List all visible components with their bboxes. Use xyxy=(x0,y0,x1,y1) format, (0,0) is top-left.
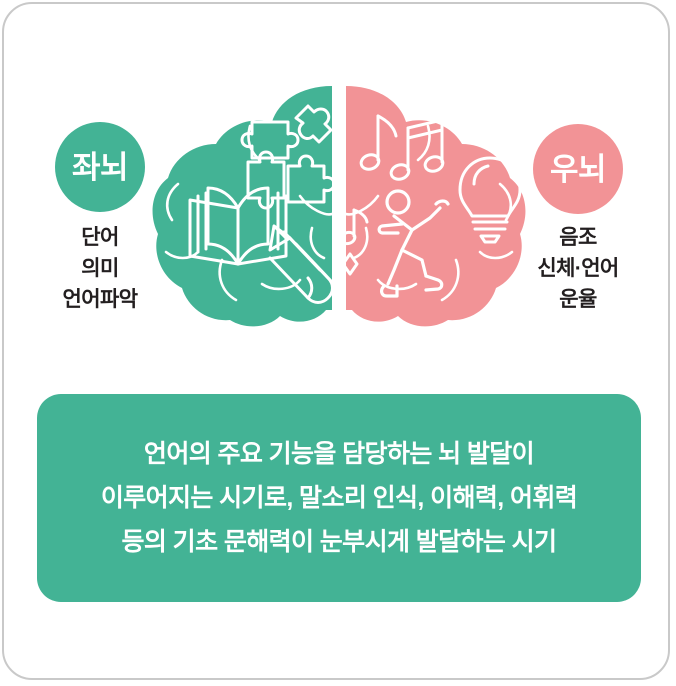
infographic-canvas: 좌뇌 단어 의미 언어파악 우뇌 음조 신체·언어 운율 xyxy=(0,0,676,686)
right-hemisphere-badge-label: 우뇌 xyxy=(550,154,606,185)
left-hemisphere-badge-label: 좌뇌 xyxy=(72,152,128,183)
message-line-2: 이루어지는 시기로, 말소리 인식, 이해력, 어휘력 xyxy=(101,476,577,520)
split-brain-illustration xyxy=(150,78,530,328)
message-line-3: 등의 기초 문해력이 눈부시게 발달하는 시기 xyxy=(101,520,577,564)
brain-svg xyxy=(150,78,530,328)
left-hemisphere-badge: 좌뇌 xyxy=(55,122,145,212)
message-panel: 언어의 주요 기능을 담당하는 뇌 발달이 이루어지는 시기로, 말소리 인식,… xyxy=(37,394,641,602)
message-line-1: 언어의 주요 기능을 담당하는 뇌 발달이 xyxy=(101,432,577,476)
message-text: 언어의 주요 기능을 담당하는 뇌 발달이 이루어지는 시기로, 말소리 인식,… xyxy=(101,432,577,564)
right-hemisphere-badge: 우뇌 xyxy=(533,124,623,214)
left-hemisphere-shape xyxy=(153,86,332,326)
